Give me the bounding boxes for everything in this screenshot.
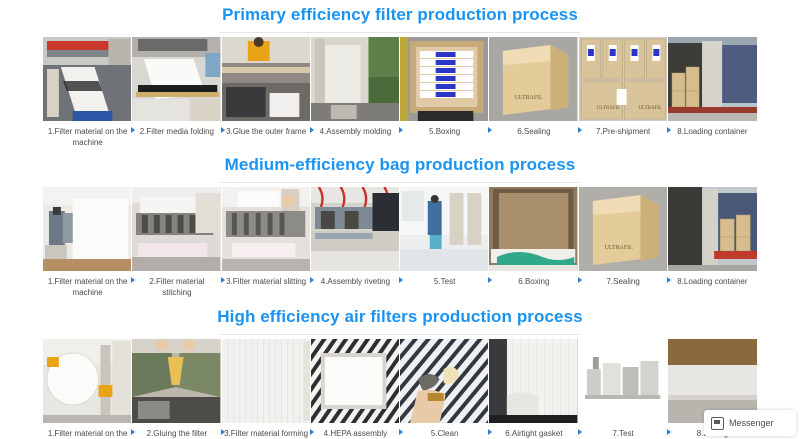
step-caption: 1.Filter material on the machine bbox=[43, 276, 132, 298]
caption-row: 1.Filter material on the machine 2.Filte… bbox=[43, 276, 757, 298]
step-caption: 4.Assembly riveting bbox=[311, 276, 400, 287]
step-image-filter-material-stitching[interactable] bbox=[132, 187, 221, 271]
svg-text:ULTRAFIL: ULTRAFIL bbox=[604, 245, 633, 251]
step-caption: 5.Test bbox=[400, 276, 489, 287]
step-image-filter-material-slitting[interactable] bbox=[222, 187, 311, 271]
title-divider bbox=[220, 182, 580, 183]
step-image-boxing-open-carton[interactable] bbox=[400, 37, 489, 121]
step-caption: 6.Sealing bbox=[489, 126, 578, 137]
process-infographic-page: Primary efficiency filter production pro… bbox=[0, 0, 800, 439]
section-title: High efficiency air filters production p… bbox=[0, 302, 800, 328]
step-caption: 3.Filter material forming bbox=[222, 428, 311, 439]
section-primary-efficiency: Primary efficiency filter production pro… bbox=[0, 0, 800, 148]
section-title: Primary efficiency filter production pro… bbox=[0, 0, 800, 26]
step-image-test-lab[interactable] bbox=[400, 187, 489, 271]
step-image-sealed-carton-ultrafil[interactable]: ULTRAFIL bbox=[489, 37, 578, 121]
step-image-clean-wiping[interactable] bbox=[400, 339, 489, 423]
image-strip bbox=[43, 339, 757, 423]
messenger-chat-icon bbox=[711, 417, 724, 430]
svg-text:ULTRAFIL: ULTRAFIL bbox=[515, 95, 544, 101]
step-image-glue-outer-frame[interactable] bbox=[222, 37, 311, 121]
image-strip: ULTRAFIL bbox=[43, 187, 757, 271]
step-image-assembly-molding[interactable] bbox=[311, 37, 400, 121]
step-caption: 6.Boxing bbox=[489, 276, 578, 287]
step-caption: 5.Clean bbox=[400, 428, 489, 439]
section-title: Medium-efficiency bag production process bbox=[0, 150, 800, 176]
title-divider bbox=[220, 32, 580, 33]
step-image-boxing-bag-filters[interactable] bbox=[489, 187, 578, 271]
step-caption: 7.Sealing bbox=[579, 276, 668, 287]
messenger-label: Messenger bbox=[729, 418, 774, 428]
step-image-hepa-assembly[interactable] bbox=[311, 339, 400, 423]
step-caption: 1.Filter material on the machine bbox=[43, 428, 132, 439]
messenger-widget[interactable]: Messenger bbox=[704, 410, 796, 436]
step-caption: 7.Pre-shipment bbox=[579, 126, 668, 137]
step-image-filter-material-machine[interactable] bbox=[43, 187, 132, 271]
step-caption: 2.Gluing the filter material bbox=[132, 428, 221, 439]
step-image-filter-media-folding[interactable] bbox=[132, 37, 221, 121]
section-high-efficiency: High efficiency air filters production p… bbox=[0, 302, 800, 439]
step-caption: 2.Filter material stitching bbox=[132, 276, 221, 298]
step-image-test-equipment[interactable] bbox=[579, 339, 668, 423]
step-caption: 4.HEPA assembly bbox=[311, 428, 400, 439]
step-image-filter-material-machine[interactable] bbox=[43, 37, 132, 121]
step-caption: 4.Assembly molding bbox=[311, 126, 400, 137]
step-caption: 1.Filter material on the machine bbox=[43, 126, 132, 148]
step-image-sealed-carton-ultrafil[interactable]: ULTRAFIL bbox=[579, 187, 668, 271]
image-strip: ULTRAFIL bbox=[43, 37, 757, 121]
svg-text:ULTRAFIL: ULTRAFIL bbox=[638, 106, 661, 111]
step-image-loading-container-truck[interactable] bbox=[668, 37, 757, 121]
step-caption: 3.Glue the outer frame bbox=[222, 126, 311, 137]
title-divider bbox=[220, 334, 580, 335]
step-caption: 6.Airtight gasket bbox=[489, 428, 578, 439]
step-caption: 8.Loading container bbox=[668, 126, 757, 137]
step-image-filter-material-roll[interactable] bbox=[43, 339, 132, 423]
step-image-airtight-gasket[interactable] bbox=[489, 339, 578, 423]
svg-text:ULTRAFIL: ULTRAFIL bbox=[596, 106, 619, 111]
caption-row: 1.Filter material on the machine 2.Filte… bbox=[43, 126, 757, 148]
step-image-pre-shipment-stacked-cartons[interactable]: ULTRAFIL ULTRAFIL bbox=[579, 37, 668, 121]
step-caption: 7.Test bbox=[579, 428, 668, 439]
section-medium-efficiency: Medium-efficiency bag production process bbox=[0, 150, 800, 298]
step-caption: 8.Loading container bbox=[668, 276, 757, 287]
step-caption: 5.Boxing bbox=[400, 126, 489, 137]
step-image-loading-container-truck[interactable] bbox=[668, 187, 757, 271]
step-image-assembly-riveting[interactable] bbox=[311, 187, 400, 271]
step-image-filter-material-forming[interactable] bbox=[222, 339, 311, 423]
caption-row: 1.Filter material on the machine 2.Gluin… bbox=[43, 428, 757, 439]
step-caption: 2.Filter media folding bbox=[132, 126, 221, 137]
step-image-gluing-filter-material[interactable] bbox=[132, 339, 221, 423]
step-caption: 3.Filter material slitting bbox=[222, 276, 311, 287]
